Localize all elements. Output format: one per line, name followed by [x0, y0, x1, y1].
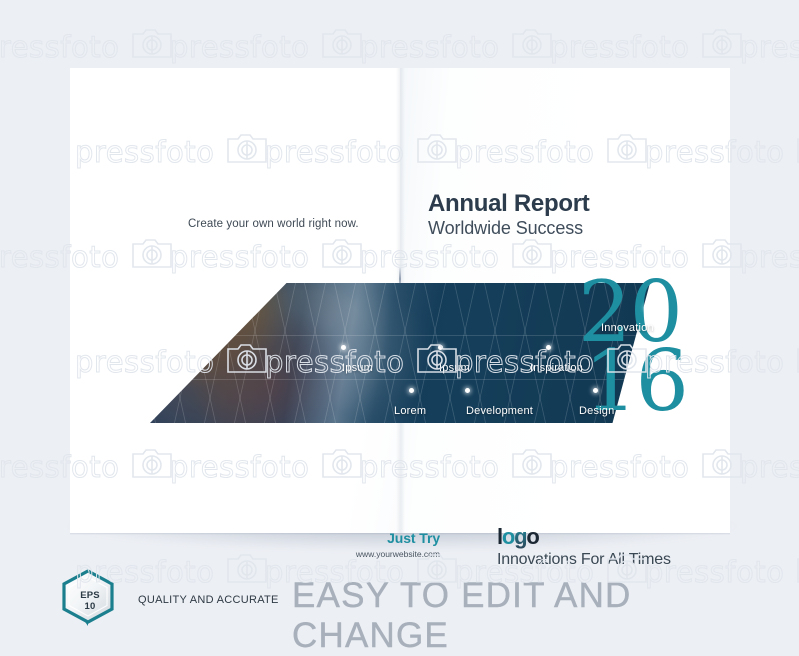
banner-node-dot — [645, 305, 650, 310]
watermark-camera-icon — [700, 22, 744, 60]
watermark-camera-icon — [130, 22, 174, 60]
page-title: Annual Report — [428, 190, 589, 218]
banner-label: Ipsum — [439, 362, 470, 374]
website-url[interactable]: www.yourwebsite.com — [310, 549, 440, 559]
logo-letter-o2: o — [526, 524, 538, 549]
left-footer-block: Just Try www.yourwebsite.com — [310, 530, 440, 559]
poster-canvas: Create your own world right now. Annual … — [0, 0, 799, 647]
watermark-text: pressfoto — [740, 450, 799, 484]
watermark-camera-icon — [320, 22, 364, 60]
banner-node-dot — [546, 345, 551, 350]
logo-wordmark: logo — [497, 526, 671, 548]
logo-letter-o1: o — [502, 524, 514, 549]
watermark-camera-icon — [795, 337, 799, 375]
easy-to-edit-headline: EASY TO EDIT AND CHANGE — [292, 576, 799, 656]
bottom-info-bar: EPS 10 QUALITY AND ACCURATE EASY TO EDIT… — [0, 560, 799, 635]
watermark-text: pressfoto — [360, 30, 499, 64]
watermark-text: pressfoto — [740, 240, 799, 274]
page-subtitle: Worldwide Success — [428, 218, 583, 239]
banner-node-dot — [438, 345, 443, 350]
watermark-text: pressfoto — [740, 30, 799, 64]
banner-node-dot — [593, 388, 598, 393]
brochure-spread: Create your own world right now. Annual … — [70, 68, 730, 533]
watermark-text: pressfoto — [0, 30, 119, 64]
banner-label: Inspiration — [530, 362, 583, 374]
banner-node-dot — [341, 345, 346, 350]
left-page-tagline: Create your own world right now. — [188, 218, 359, 230]
banner-label: Design — [579, 405, 614, 417]
banner-label: Lorem — [394, 405, 426, 417]
watermark-text: pressfoto — [550, 30, 689, 64]
just-try-cta[interactable]: Just Try — [310, 530, 440, 546]
watermark-camera-icon — [510, 22, 554, 60]
banner-node-dot — [409, 388, 414, 393]
watermark-text: pressfoto — [170, 30, 309, 64]
logo-letter-g: g — [514, 524, 526, 549]
year-2016: 20 16 — [578, 274, 708, 424]
banner-label: Ipsum — [342, 362, 373, 374]
watermark-camera-icon — [795, 127, 799, 165]
banner-label: Development — [466, 405, 533, 417]
quality-caption: QUALITY AND ACCURATE — [138, 594, 279, 606]
banner-divider-2 — [150, 379, 650, 380]
banner-node-dot — [465, 388, 470, 393]
banner-label: Innovation — [601, 322, 654, 334]
eps-badge-label: EPS 10 — [74, 590, 106, 612]
